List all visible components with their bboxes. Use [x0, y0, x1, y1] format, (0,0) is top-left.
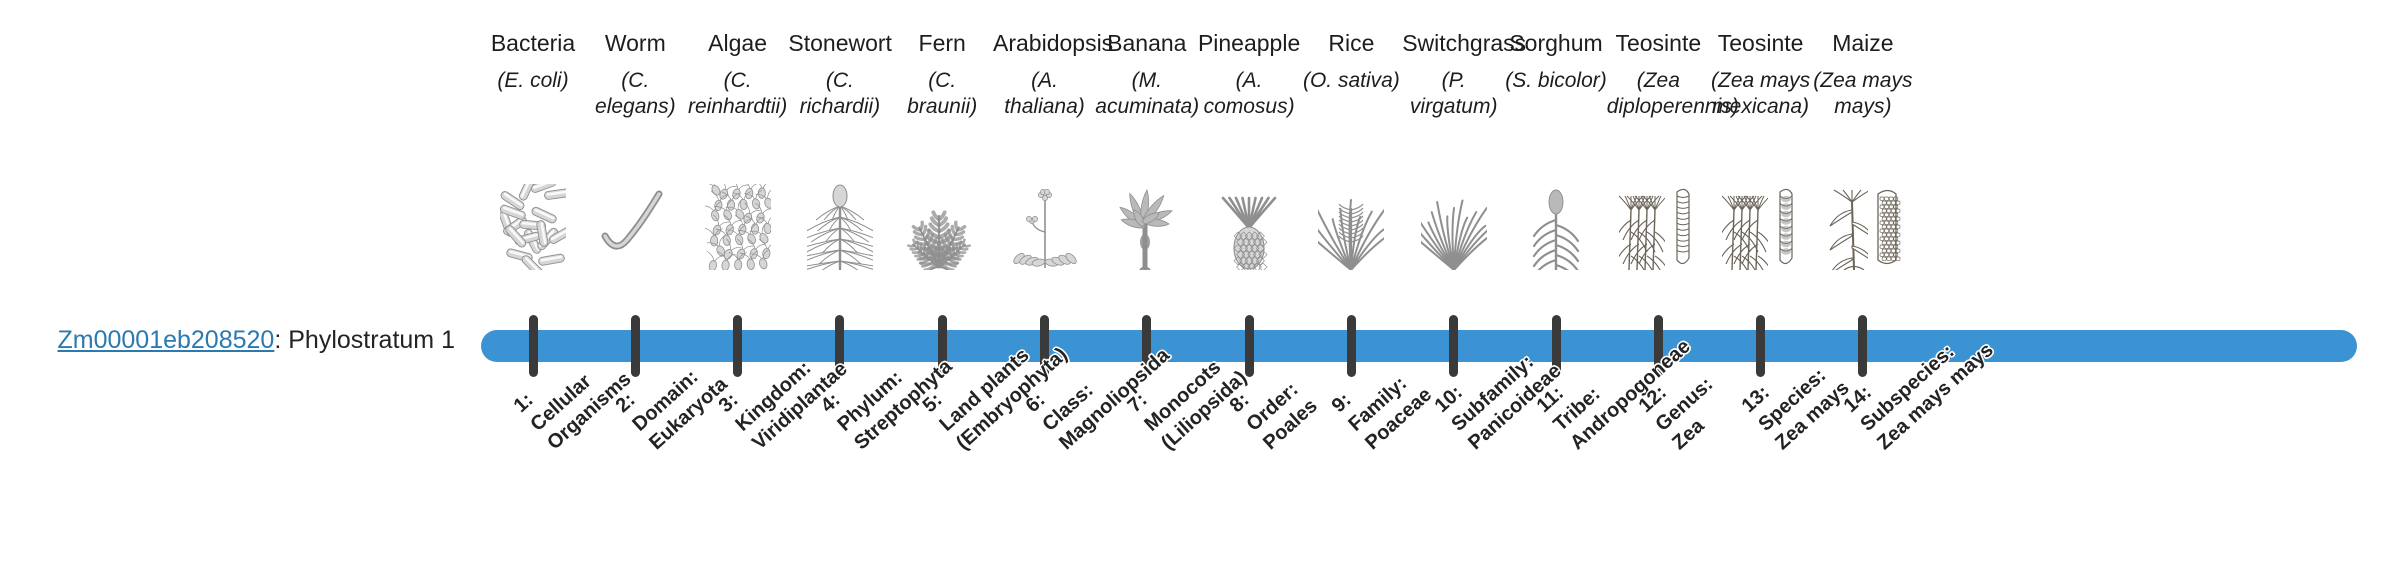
species-common-name: Teosinte [1607, 30, 1710, 60]
species-scientific-name: (S. bicolor) [1505, 68, 1608, 124]
species-scientific-name: (P. virgatum) [1402, 68, 1505, 124]
phylostratum-tick [529, 315, 538, 377]
species-common-name: Maize [1811, 30, 1914, 60]
phylostratigraphy-figure: Zm00001eb208520: Phylostratum 1 Bacteria… [0, 0, 2400, 580]
species-common-name: Pineapple [1198, 30, 1301, 60]
species-column: Bacteria(E. coli) [482, 30, 585, 310]
species-scientific-name: (C. braunii) [891, 68, 994, 124]
species-common-name: Algae [686, 30, 789, 60]
species-scientific-name: (Zea mays mays) [1811, 68, 1914, 124]
species-common-name: Rice [1300, 30, 1403, 60]
species-scientific-name: (O. sativa) [1300, 68, 1403, 124]
species-scientific-name: (E. coli) [482, 68, 585, 124]
species-common-name: Sorghum [1505, 30, 1608, 60]
species-common-name: Worm [584, 30, 687, 60]
species-common-name: Banana [1095, 30, 1198, 60]
species-scientific-name: (C. richardii) [788, 68, 891, 124]
species-common-name: Teosinte [1709, 30, 1812, 60]
species-scientific-name: (C. reinhardtii) [686, 68, 789, 124]
species-scientific-name: (Zea diploperennis) [1607, 68, 1710, 124]
species-scientific-name: (C. elegans) [584, 68, 687, 124]
gene-phylostratum-label: Zm00001eb208520: Phylostratum 1 [0, 325, 455, 355]
species-scientific-name: (A. comosus) [1198, 68, 1301, 124]
species-common-name: Stonewort [788, 30, 891, 60]
species-scientific-name: (M. acuminata) [1095, 68, 1198, 124]
species-common-name: Switchgrass [1402, 30, 1505, 60]
bacteria-illustration-icon [482, 182, 585, 270]
gene-id-link[interactable]: Zm00001eb208520 [57, 326, 274, 354]
species-scientific-name: (A. thaliana) [993, 68, 1096, 124]
species-common-name: Bacteria [482, 30, 585, 60]
gene-label-separator: : [274, 326, 288, 354]
gene-phylostratum-value: Phylostratum 1 [288, 326, 455, 354]
species-common-name: Fern [891, 30, 994, 60]
species-common-name: Arabidopsis [993, 30, 1096, 60]
species-scientific-name: (Zea mays mexicana) [1709, 68, 1812, 124]
